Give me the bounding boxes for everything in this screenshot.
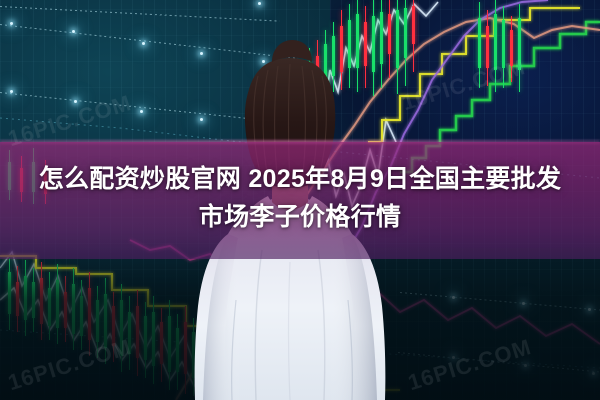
page-title: 怎么配资炒股官网 2025年8月9日全国主要批发 市场李子价格行情	[0, 160, 600, 236]
title-line-1: 怎么配资炒股官网 2025年8月9日全国主要批发	[0, 160, 600, 198]
title-line-2: 市场李子价格行情	[0, 198, 600, 236]
stock-banner-image: 怎么配资炒股官网 2025年8月9日全国主要批发 市场李子价格行情 16PIC.…	[0, 0, 600, 400]
